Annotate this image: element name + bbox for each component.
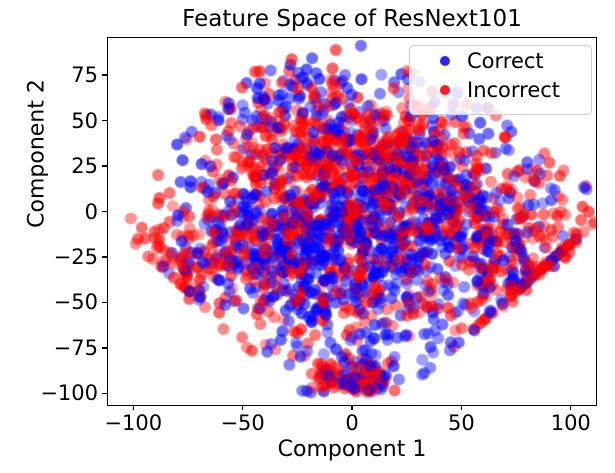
y-tick-mark	[102, 256, 107, 257]
x-tick-label: −100	[104, 411, 162, 435]
y-tick-mark	[102, 165, 107, 166]
y-tick-mark	[102, 120, 107, 121]
y-tick-label: −50	[54, 290, 98, 314]
x-axis-label: Component 1	[107, 437, 597, 462]
y-tick-mark	[102, 211, 107, 212]
x-tick-mark	[242, 405, 243, 410]
legend-marker-incorrect-icon	[440, 85, 450, 95]
y-tick-label: 25	[71, 154, 98, 178]
y-tick-mark	[102, 302, 107, 303]
x-tick-mark	[461, 405, 462, 410]
legend-item-correct[interactable]: Correct	[410, 46, 591, 75]
x-tick-mark	[351, 405, 352, 410]
legend-label-correct: Correct	[467, 49, 544, 73]
y-tick-label: 0	[85, 200, 98, 224]
x-tick-label: 100	[551, 411, 591, 435]
y-axis-label: Component 2	[25, 44, 50, 264]
figure-scatter-plot: Feature Space of ResNext101 Component 1 …	[0, 0, 615, 473]
y-tick-label: −100	[40, 381, 98, 405]
legend[interactable]: Correct Incorrect	[409, 45, 592, 115]
y-tick-mark	[102, 347, 107, 348]
y-tick-label: 50	[71, 109, 98, 133]
legend-marker-correct-icon	[440, 56, 450, 66]
legend-item-incorrect[interactable]: Incorrect	[410, 75, 591, 104]
legend-label-incorrect: Incorrect	[467, 78, 560, 102]
y-tick-mark	[102, 393, 107, 394]
y-tick-mark	[102, 74, 107, 75]
y-tick-label: −75	[54, 336, 98, 360]
x-tick-label: 50	[448, 411, 475, 435]
x-tick-label: 0	[345, 411, 358, 435]
y-tick-label: 75	[71, 63, 98, 87]
y-tick-label: −25	[54, 245, 98, 269]
page-title: Feature Space of ResNext101	[107, 4, 597, 34]
x-tick-label: −50	[220, 411, 264, 435]
x-tick-mark	[570, 405, 571, 410]
x-tick-mark	[133, 405, 134, 410]
